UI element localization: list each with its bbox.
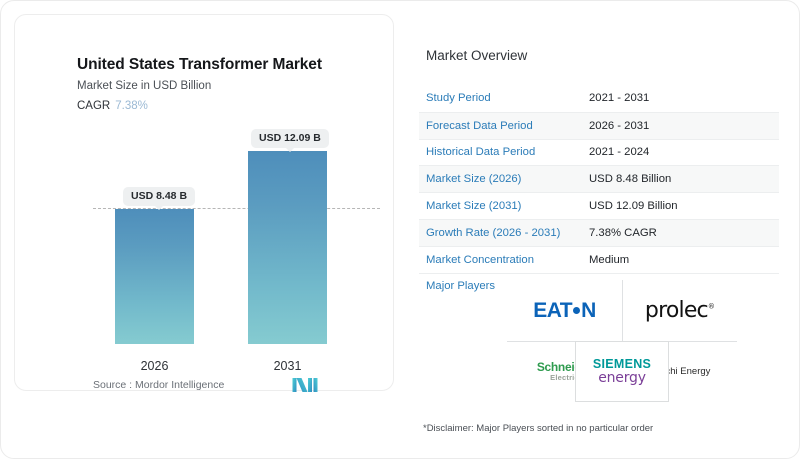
eaton-part3: N <box>581 299 596 323</box>
table-row: Historical Data Period 2021 - 2024 <box>419 139 779 166</box>
chart-card: United States Transformer Market Market … <box>14 14 394 391</box>
bar-2026 <box>115 209 194 344</box>
prolec-wordmark: prolec® <box>645 298 714 323</box>
market-overview-title: Market Overview <box>426 48 527 63</box>
siemens-line2: energy <box>598 371 646 386</box>
row-key: Market Size (2026) <box>419 173 589 185</box>
table-row: Market Concentration Medium <box>419 246 779 273</box>
row-value: 7.38% CAGR <box>589 227 657 239</box>
market-overview-table: Study Period 2021 - 2031 Forecast Data P… <box>419 85 779 299</box>
row-value: Medium <box>589 254 629 266</box>
prolec-text: prolec <box>645 298 708 323</box>
row-key: Historical Data Period <box>419 146 589 158</box>
siemens-line1: SIEMENS <box>593 358 651 371</box>
mordor-intelligence-logo <box>292 377 318 393</box>
row-value: USD 12.09 Billion <box>589 200 678 212</box>
player-logo-prolec: prolec® <box>622 280 737 341</box>
row-value: 2026 - 2031 <box>589 120 649 132</box>
table-row: Market Size (2026) USD 8.48 Billion <box>419 165 779 192</box>
row-key: Forecast Data Period <box>419 120 589 132</box>
disclaimer-text: *Disclaimer: Major Players sorted in no … <box>423 423 653 434</box>
row-key: Market Concentration <box>419 254 589 266</box>
eaton-part2: AT <box>547 299 572 323</box>
source-label: Source : Mordor Intelligence <box>93 379 224 391</box>
value-label-2031: USD 12.09 B <box>251 129 329 148</box>
eaton-part1: E <box>533 299 547 323</box>
player-logo-eaton: EATN <box>507 280 622 341</box>
row-value: 2021 - 2031 <box>589 92 649 104</box>
x-axis-label-2026: 2026 <box>115 359 194 373</box>
row-key: Study Period <box>419 92 589 104</box>
bar-2031 <box>248 151 327 344</box>
market-summary-infographic: United States Transformer Market Market … <box>0 0 800 459</box>
row-value: USD 8.48 Billion <box>589 173 671 185</box>
eaton-wordmark: EATN <box>533 299 596 323</box>
table-row: Study Period 2021 - 2031 <box>419 85 779 112</box>
row-key: Growth Rate (2026 - 2031) <box>419 227 589 239</box>
value-label-2026: USD 8.48 B <box>123 187 195 206</box>
table-row: Growth Rate (2026 - 2031) 7.38% CAGR <box>419 219 779 246</box>
table-row: Forecast Data Period 2026 - 2031 <box>419 112 779 139</box>
player-logo-siemens-energy: SIEMENS energy <box>575 341 669 402</box>
eaton-dot-icon <box>573 307 580 314</box>
table-row: Market Size (2031) USD 12.09 Billion <box>419 192 779 219</box>
bar-chart-plot: USD 8.48 B USD 12.09 B 2026 2031 <box>28 28 408 405</box>
prolec-registered-icon: ® <box>708 303 714 311</box>
row-key: Market Size (2031) <box>419 200 589 212</box>
row-value: 2021 - 2024 <box>589 146 649 158</box>
x-axis-label-2031: 2031 <box>248 359 327 373</box>
